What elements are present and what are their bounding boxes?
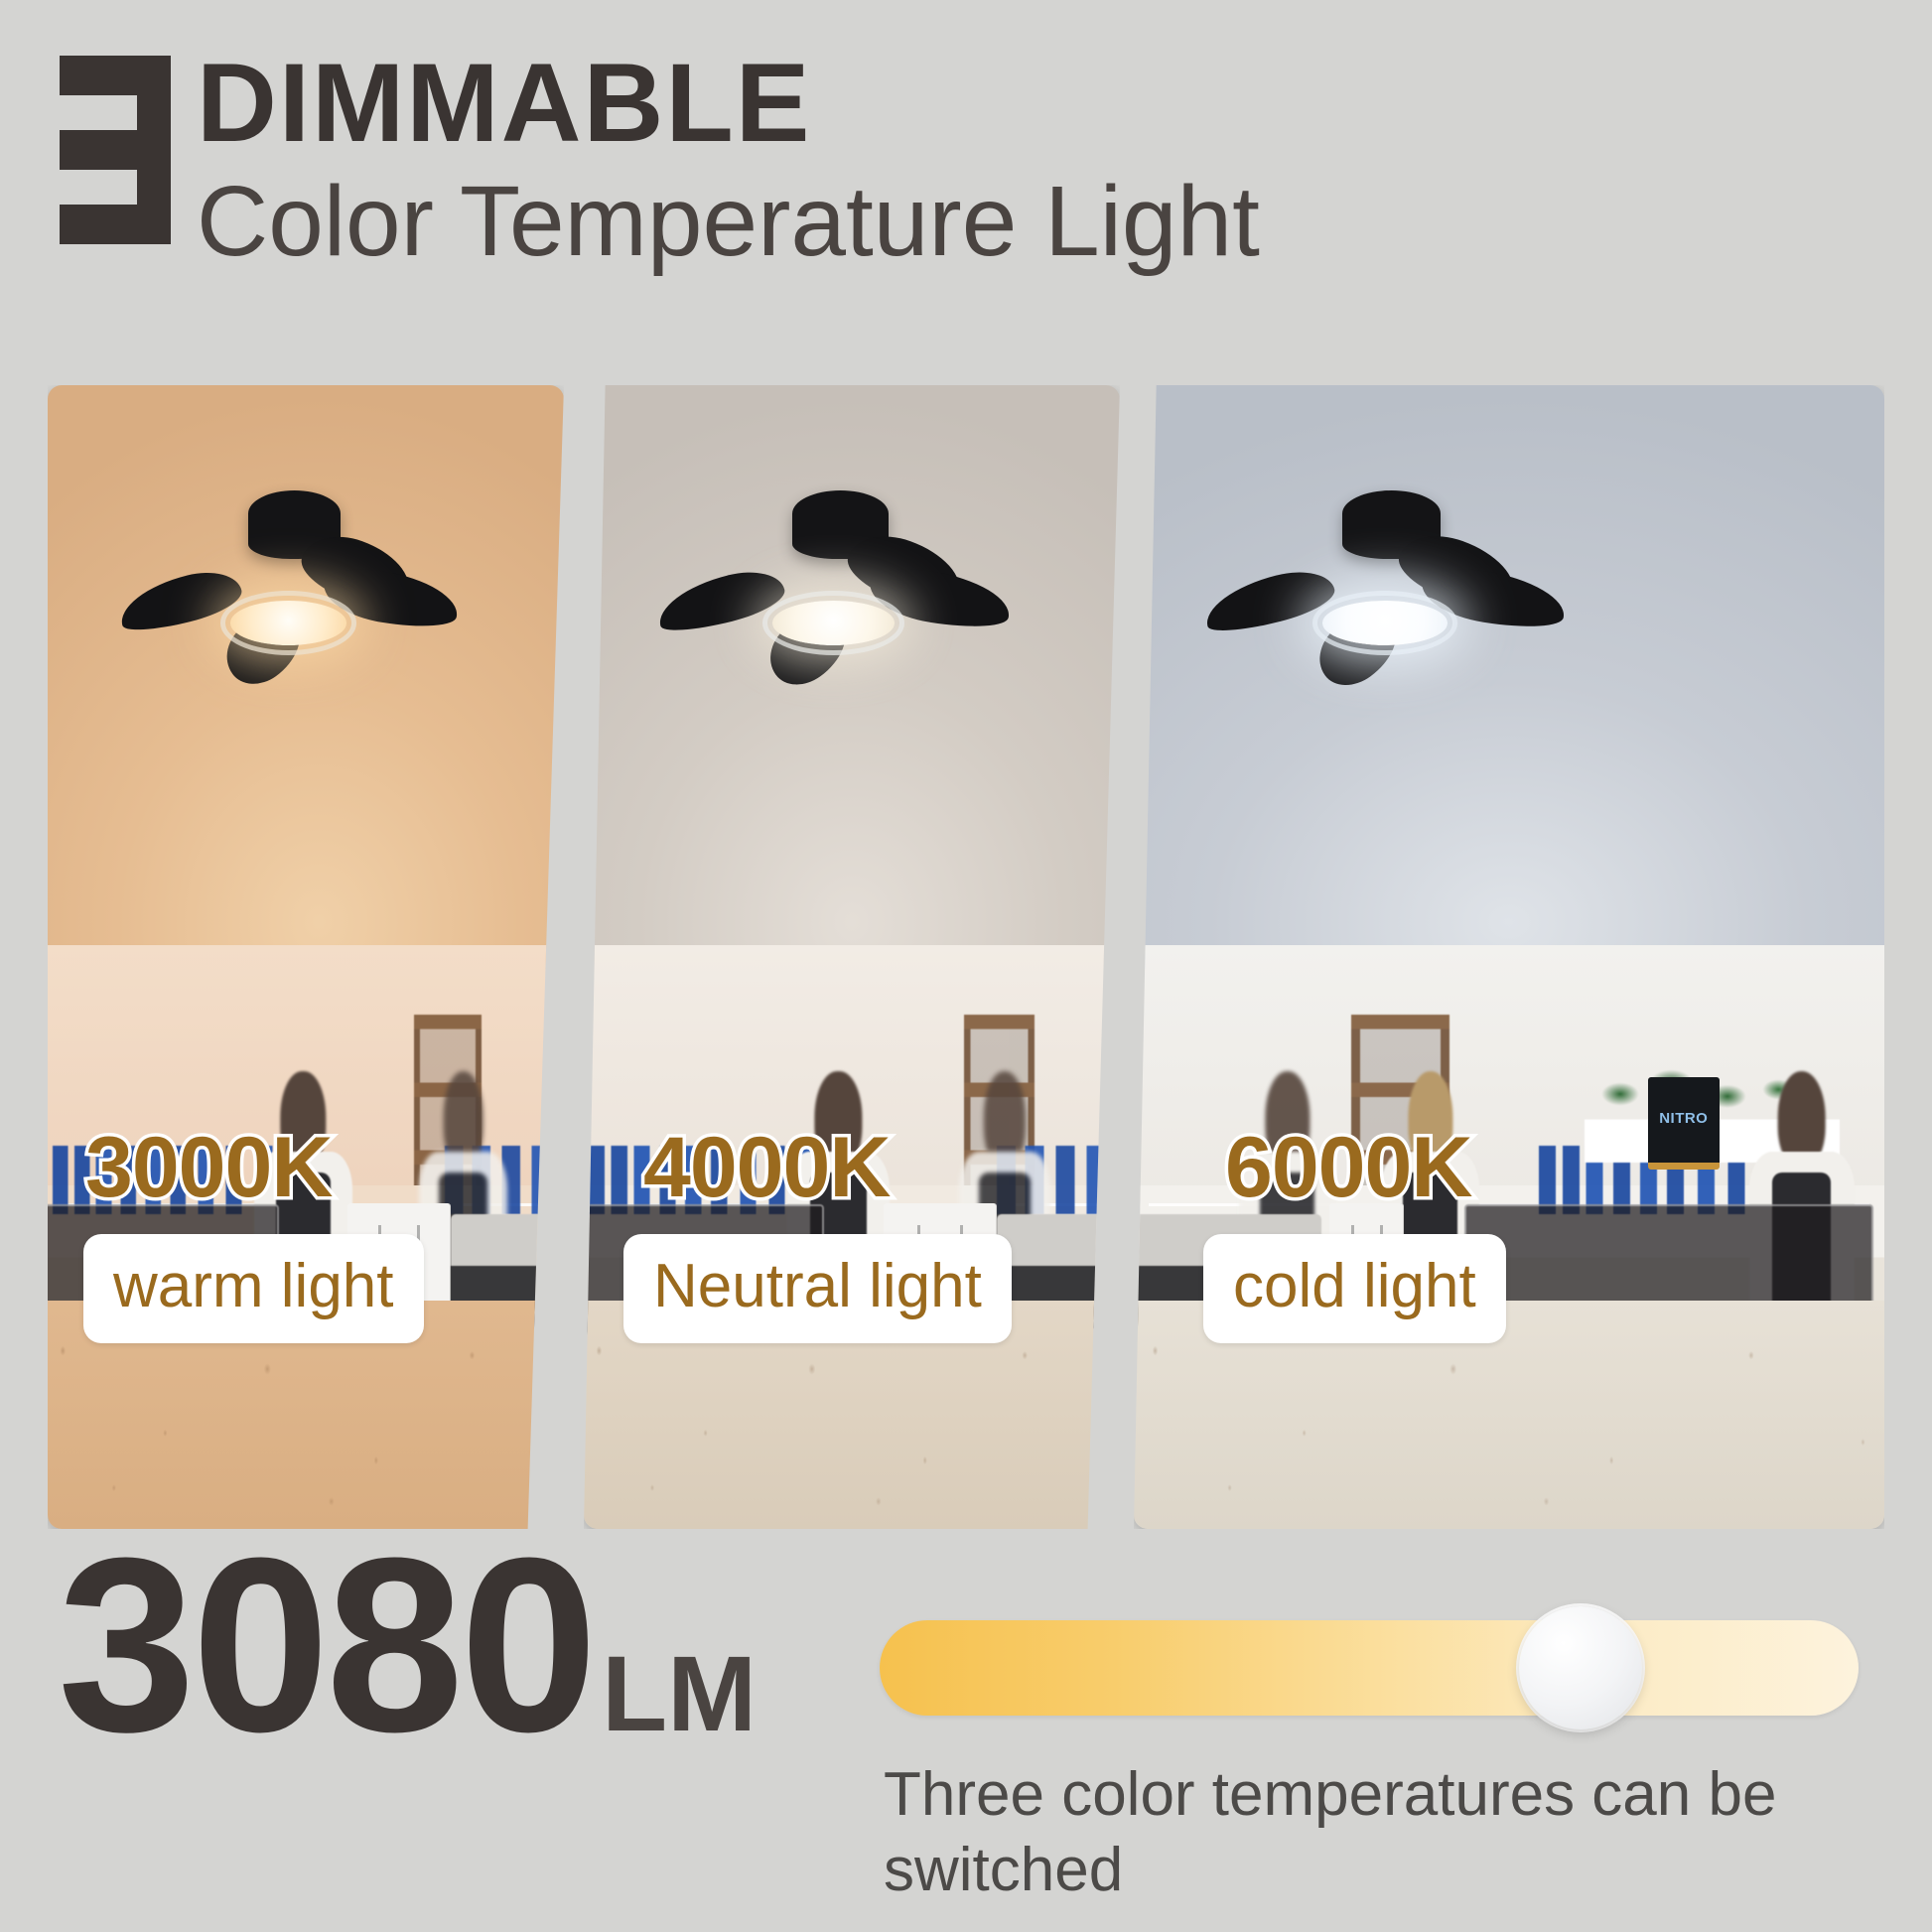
ceiling-fan-product (1216, 477, 1547, 705)
mode-badge-warm: warm light (83, 1234, 424, 1343)
panel-4000k[interactable]: 4000K Neutral light (584, 385, 1120, 1529)
mode-badge-neutral: Neutral light (623, 1234, 1012, 1343)
lumens-value: 3080 (58, 1543, 594, 1746)
ceiling-fan-product (130, 477, 440, 705)
ceiling-fan-product (669, 477, 991, 705)
header-text-block: DIMMABLE Color Temperature Light (197, 48, 1260, 279)
mode-badge-cold: cold light (1203, 1234, 1506, 1343)
page-title: DIMMABLE (197, 48, 1260, 159)
header: DIMMABLE Color Temperature Light (60, 48, 1260, 279)
nitro-sign-text: NITRO (1648, 1110, 1720, 1127)
kelvin-label-3000k: 3000K (85, 1125, 332, 1210)
slider-caption: Three color temperatures can be switched (884, 1757, 1807, 1907)
fan-light-globe-inner (772, 601, 895, 645)
fan-light-globe (1312, 591, 1457, 655)
slider-thumb[interactable] (1519, 1606, 1642, 1729)
fan-light-globe-inner (230, 601, 346, 645)
lumens-unit: LM (602, 1631, 757, 1755)
slider-track[interactable] (880, 1620, 1859, 1716)
panel-6000k[interactable]: NITRO (1134, 385, 1884, 1529)
fan-light-globe (220, 591, 356, 655)
page-subtitle: Color Temperature Light (197, 165, 1260, 279)
brightness-slider[interactable] (880, 1620, 1876, 1716)
logo-arm-top (60, 56, 171, 95)
scene-cold: NITRO (1134, 385, 1884, 1529)
logo-arm-middle (60, 130, 171, 170)
scene-neutral (584, 385, 1120, 1529)
three-bar-reversed-e-logo-icon (60, 56, 171, 244)
logo-arm-bottom (60, 205, 171, 244)
fan-light-globe-inner (1322, 601, 1448, 645)
kelvin-label-4000k: 4000K (643, 1125, 890, 1210)
nitro-coffee-sign: NITRO (1648, 1077, 1720, 1170)
panel-3000k[interactable]: 3000K warm light (48, 385, 564, 1529)
scene-warm (48, 385, 564, 1529)
fan-light-globe (762, 591, 904, 655)
lumens-block: 3080 LM (58, 1543, 757, 1755)
kelvin-label-6000k: 6000K (1225, 1125, 1471, 1210)
